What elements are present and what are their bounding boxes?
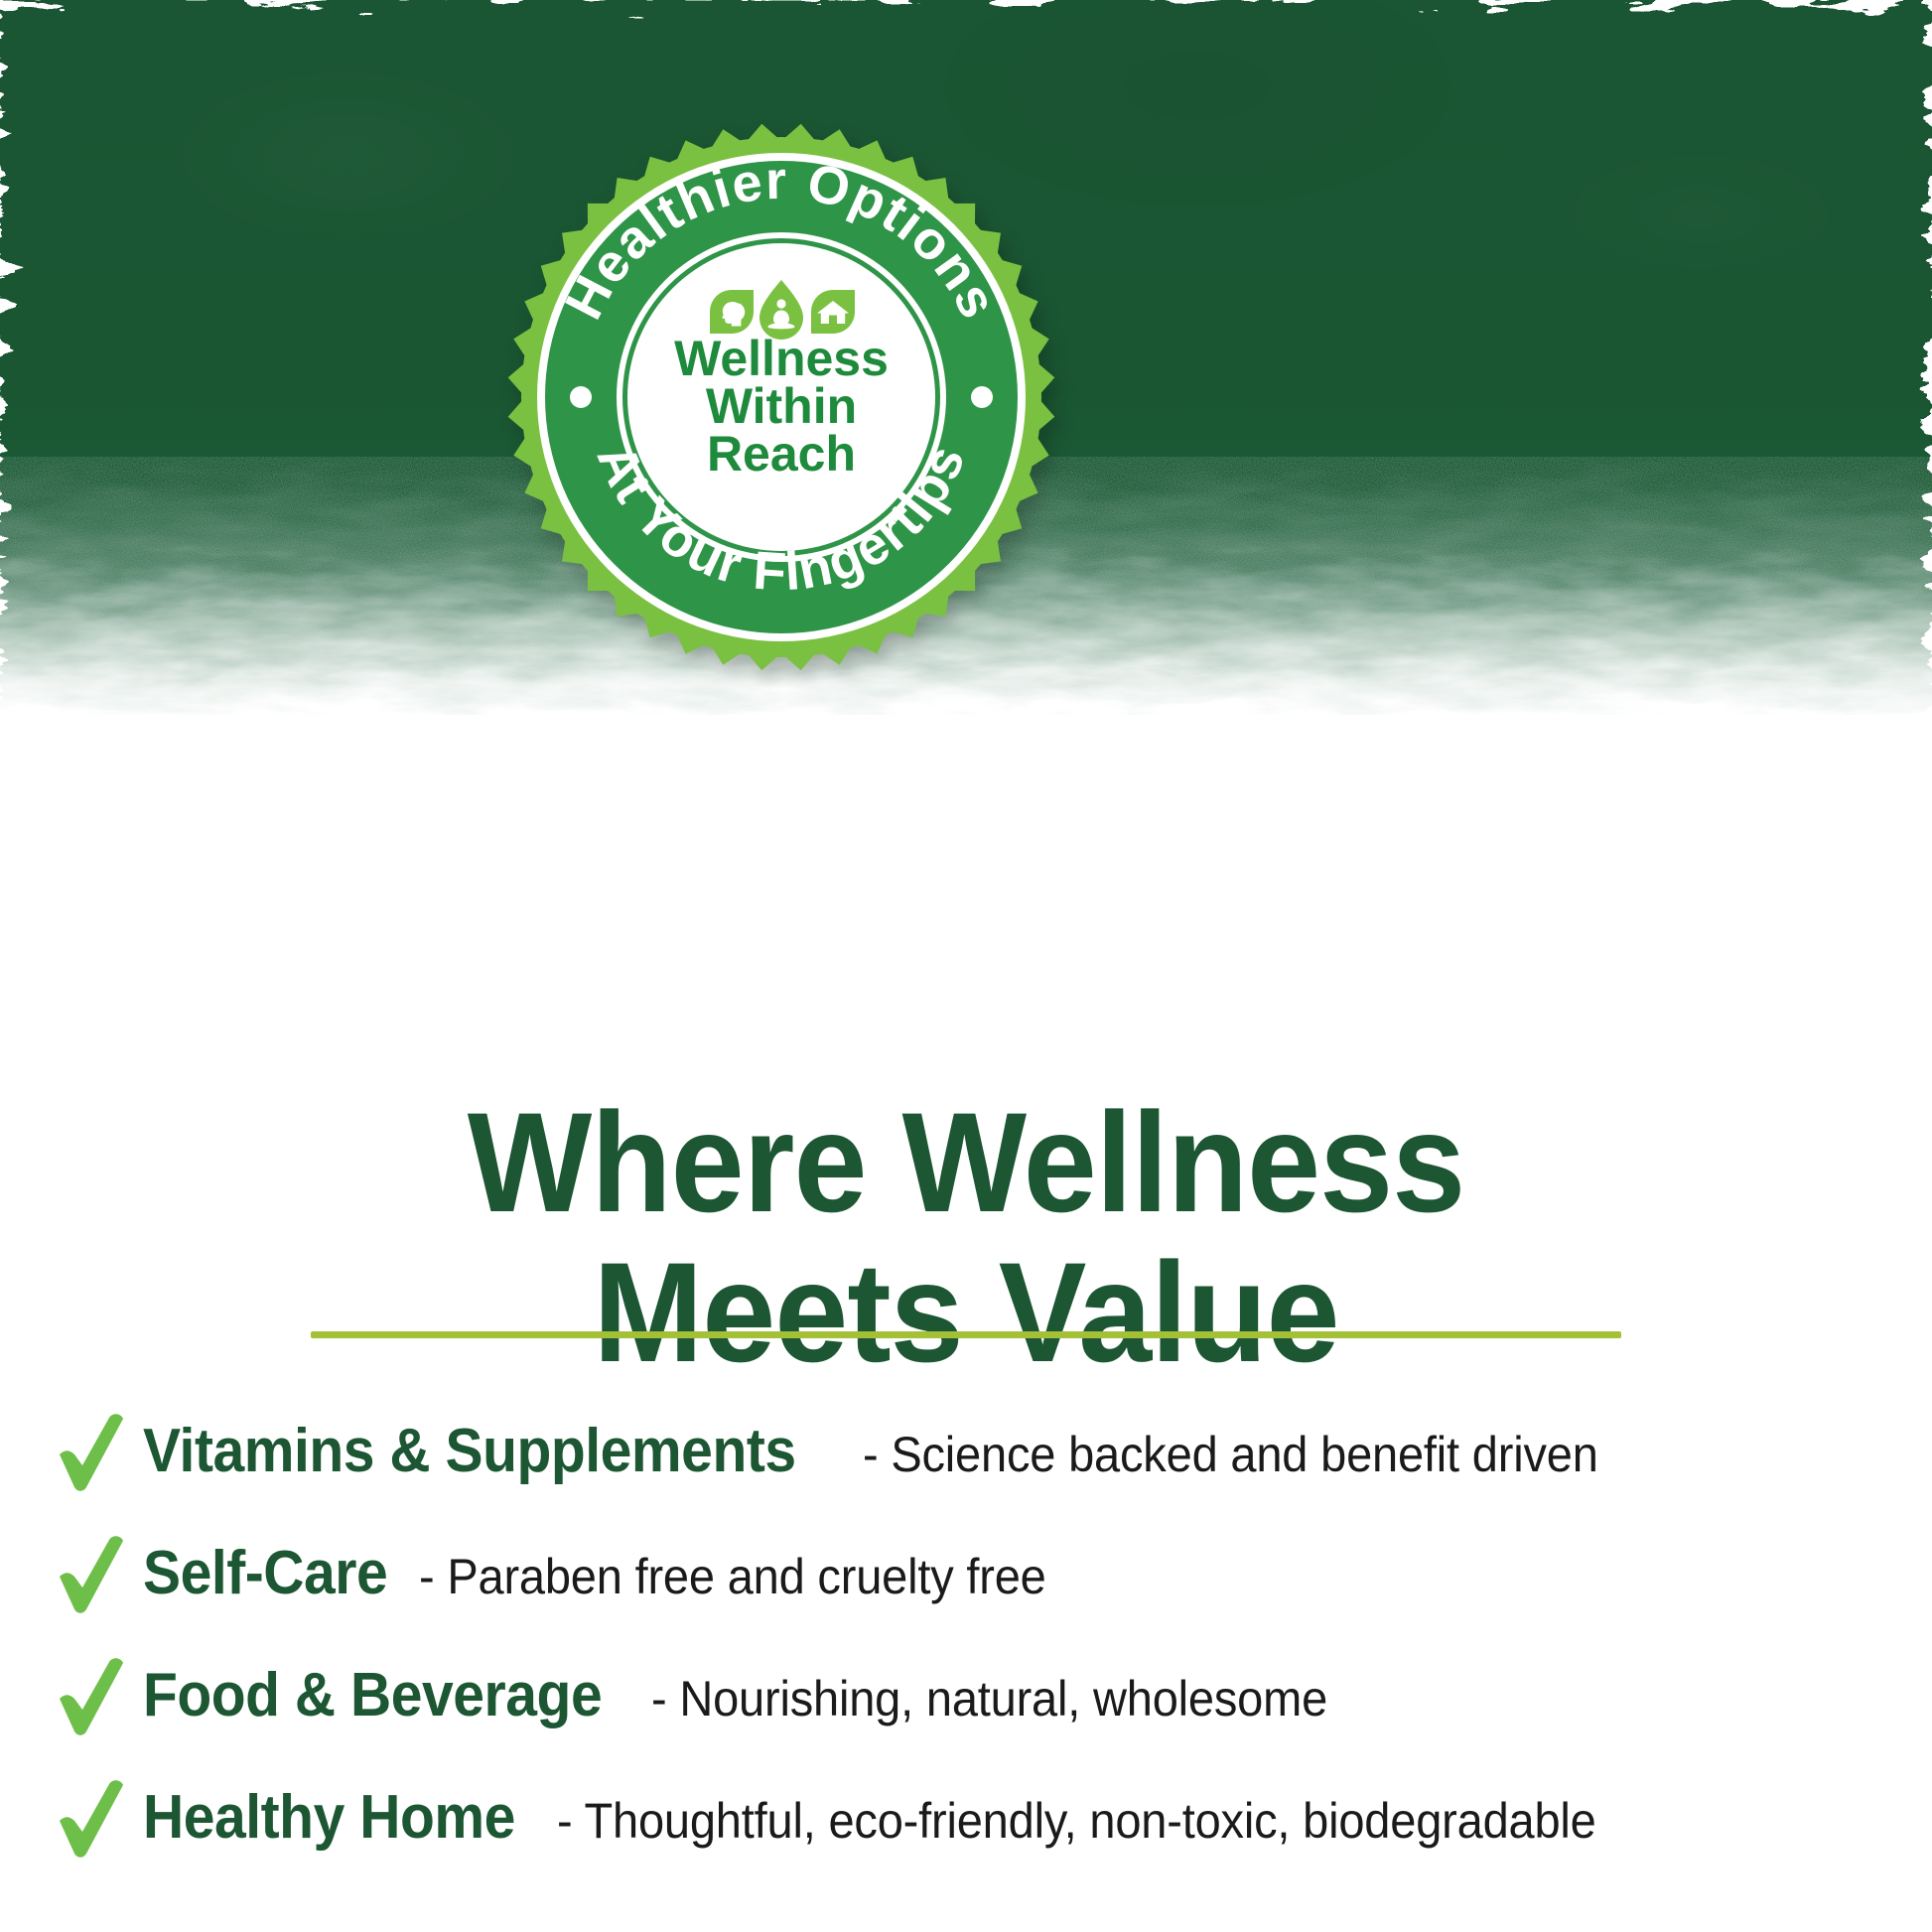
check-icon	[52, 1529, 129, 1618]
house-leaf-icon	[811, 290, 855, 334]
badge-separator-dot-right	[971, 386, 993, 408]
check-icon	[52, 1651, 129, 1740]
feature-title: Self-Care	[143, 1538, 387, 1608]
badge-graphic: Healthier Options At Your Fingertips	[493, 109, 1069, 685]
badge-separator-dot-left	[570, 386, 592, 408]
page-title: Where Wellness Meets Value	[68, 1088, 1864, 1389]
check-icon	[52, 1773, 129, 1863]
feature-text: Self-Care - Paraben free and cruelty fre…	[143, 1538, 1086, 1608]
list-item: Healthy Home - Thoughtful, eco-friendly,…	[52, 1756, 1898, 1878]
feature-description: - Paraben free and cruelty free	[419, 1548, 1046, 1605]
feature-text: Healthy Home - Thoughtful, eco-friendly,…	[143, 1782, 1663, 1853]
page-title-line-2: Meets Value	[68, 1238, 1864, 1389]
check-icon	[52, 1407, 129, 1496]
feature-text: Vitamins & Supplements - Science backed …	[143, 1416, 1645, 1486]
feature-description: - Science backed and benefit driven	[863, 1426, 1598, 1483]
feature-text: Food & Beverage - Nourishing, natural, w…	[143, 1660, 1371, 1730]
page-title-line-1: Where Wellness	[68, 1088, 1864, 1239]
list-item: Vitamins & Supplements - Science backed …	[52, 1390, 1898, 1512]
list-item: Self-Care - Paraben free and cruelty fre…	[52, 1512, 1898, 1634]
feature-title: Food & Beverage	[143, 1660, 602, 1730]
head-profile-leaf-icon	[710, 290, 754, 334]
feature-title: Healthy Home	[143, 1782, 515, 1853]
feature-description: - Nourishing, natural, wholesome	[651, 1670, 1327, 1727]
section-divider	[311, 1331, 1621, 1338]
wellness-badge: Healthier Options At Your Fingertips	[493, 109, 1069, 685]
list-item: Food & Beverage - Nourishing, natural, w…	[52, 1634, 1898, 1756]
feature-description: - Thoughtful, eco-friendly, non-toxic, b…	[557, 1792, 1596, 1850]
feature-list: Vitamins & Supplements - Science backed …	[52, 1390, 1898, 1878]
badge-word-line-3: Reach	[707, 426, 856, 482]
feature-title: Vitamins & Supplements	[143, 1416, 796, 1486]
